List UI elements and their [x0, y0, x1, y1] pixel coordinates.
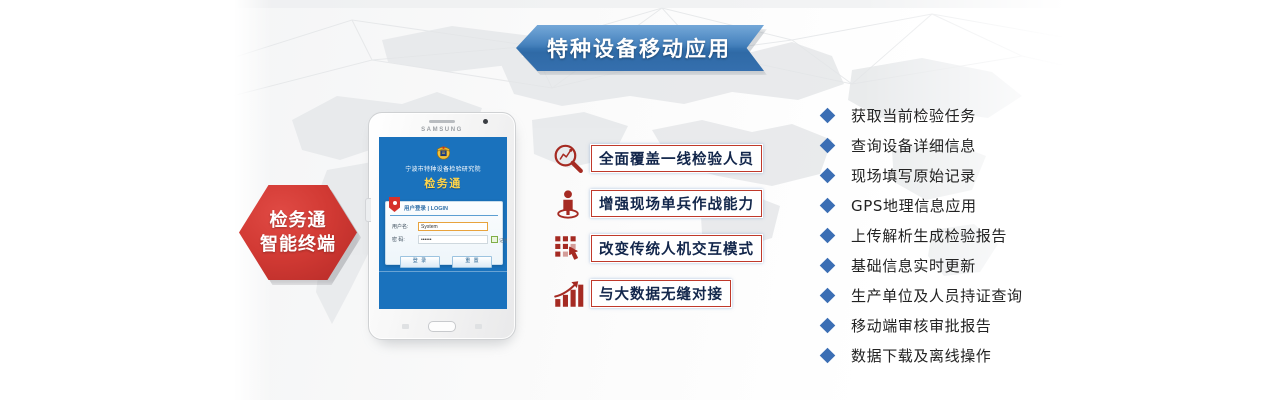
app-header: 宁波市特种设备检验研究院 检务通	[379, 137, 507, 191]
feature-label: 全面覆盖一线检验人员	[599, 148, 754, 169]
tablet-device: SAMSUNG 宁波市特种设备检验研究院 检务通	[368, 112, 516, 340]
list-item: 现场填写原始记录	[822, 160, 1023, 190]
username-input[interactable]: System	[418, 222, 488, 231]
tablet-menu-key[interactable]	[402, 324, 409, 329]
list-item-label: 获取当前检验任务	[851, 105, 976, 126]
product-badge-line1: 检务通	[270, 209, 327, 233]
diamond-bullet-icon	[820, 257, 836, 273]
checkbox-box-icon	[491, 236, 498, 243]
slide-canvas: 特种设备移动应用 检务通 智能终端 SAMSUNG	[0, 0, 1280, 400]
title-banner: 特种设备移动应用	[516, 25, 764, 71]
login-button-row: 登 录 重 置	[400, 249, 500, 268]
tablet-front-camera-icon	[483, 119, 488, 124]
app-name: 检务通	[379, 175, 507, 191]
feature-item: 全面覆盖一线检验人员	[545, 136, 810, 181]
remember-password-label: 记住密码	[499, 238, 507, 243]
agency-emblem-icon	[434, 143, 453, 162]
touch-grid-icon	[545, 229, 591, 269]
tablet-brand-label: SAMSUNG	[369, 127, 515, 133]
feature-label-box: 增强现场单兵作战能力	[591, 190, 762, 217]
diamond-bullet-icon	[820, 287, 836, 303]
tablet-body: SAMSUNG 宁波市特种设备检验研究院 检务通	[368, 112, 516, 340]
tablet-home-button[interactable]	[428, 321, 456, 332]
list-item: 移动端审核审批报告	[822, 310, 1023, 340]
list-item-label: GPS地理信息应用	[851, 195, 977, 216]
tablet-speaker-grille	[429, 120, 455, 123]
list-item: 基础信息实时更新	[822, 250, 1023, 280]
person-location-icon	[545, 184, 591, 224]
title-banner-body: 特种设备移动应用	[516, 25, 764, 71]
list-item: 上传解析生成检验报告	[822, 220, 1023, 250]
list-item-label: 数据下载及离线操作	[851, 345, 991, 366]
login-reset-button[interactable]: 重 置	[452, 256, 492, 268]
agency-name: 宁波市特种设备检验研究院	[379, 164, 507, 173]
list-item-label: 生产单位及人员持证查询	[851, 285, 1023, 306]
feature-label-box: 与大数据无缝对接	[591, 280, 731, 307]
product-badge: 检务通 智能终端	[239, 185, 357, 280]
screen-divider	[379, 271, 507, 272]
login-panel-title: 用户登录 | LOGIN	[404, 204, 448, 212]
diamond-bullet-icon	[820, 227, 836, 243]
list-item: 查询设备详细信息	[822, 130, 1023, 160]
diamond-bullet-icon	[820, 197, 836, 213]
diamond-bullet-icon	[820, 317, 836, 333]
feature-item: 与大数据无缝对接	[545, 271, 810, 316]
username-label: 用户名:	[392, 223, 408, 230]
capability-list: 获取当前检验任务 查询设备详细信息 现场填写原始记录 GPS地理信息应用 上传解…	[822, 100, 1023, 370]
diamond-bullet-icon	[820, 347, 836, 363]
login-panel: 用户登录 | LOGIN 用户名: System 密 码: •••••• 记住密…	[385, 201, 503, 265]
list-item: 生产单位及人员持证查询	[822, 280, 1023, 310]
diamond-bullet-icon	[820, 107, 836, 123]
product-badge-line2: 智能终端	[260, 233, 336, 257]
feature-label: 与大数据无缝对接	[599, 283, 723, 304]
tablet-side-button[interactable]	[365, 198, 371, 222]
password-input[interactable]: ••••••	[418, 235, 488, 244]
user-shield-icon	[389, 197, 400, 212]
magnifier-chart-icon	[545, 139, 591, 179]
list-item-label: 上传解析生成检验报告	[851, 225, 1007, 246]
list-item-label: 查询设备详细信息	[851, 135, 976, 156]
feature-list: 全面覆盖一线检验人员 增强现场单兵作战能力	[545, 136, 810, 316]
page-title: 特种设备移动应用	[547, 33, 731, 63]
feature-label-box: 改变传统人机交互模式	[591, 235, 762, 262]
feature-item: 增强现场单兵作战能力	[545, 181, 810, 226]
feature-label: 增强现场单兵作战能力	[599, 193, 754, 214]
bar-chart-growth-icon	[545, 274, 591, 314]
list-item: GPS地理信息应用	[822, 190, 1023, 220]
list-item-label: 现场填写原始记录	[851, 165, 976, 186]
list-item: 数据下载及离线操作	[822, 340, 1023, 370]
tablet-screen: 宁波市特种设备检验研究院 检务通 用户登录 | LOGIN 用户名: Syste…	[379, 137, 507, 309]
password-label: 密 码:	[392, 236, 405, 243]
tablet-back-key[interactable]	[475, 324, 482, 329]
diamond-bullet-icon	[820, 167, 836, 183]
list-item: 获取当前检验任务	[822, 100, 1023, 130]
login-panel-divider	[390, 215, 498, 216]
feature-label: 改变传统人机交互模式	[599, 238, 754, 259]
feature-item: 改变传统人机交互模式	[545, 226, 810, 271]
feature-label-box: 全面覆盖一线检验人员	[591, 145, 762, 172]
list-item-label: 基础信息实时更新	[851, 255, 976, 276]
list-item-label: 移动端审核审批报告	[851, 315, 991, 336]
diamond-bullet-icon	[820, 137, 836, 153]
remember-password-checkbox[interactable]: 记住密码	[491, 236, 507, 244]
login-submit-button[interactable]: 登 录	[400, 256, 440, 268]
